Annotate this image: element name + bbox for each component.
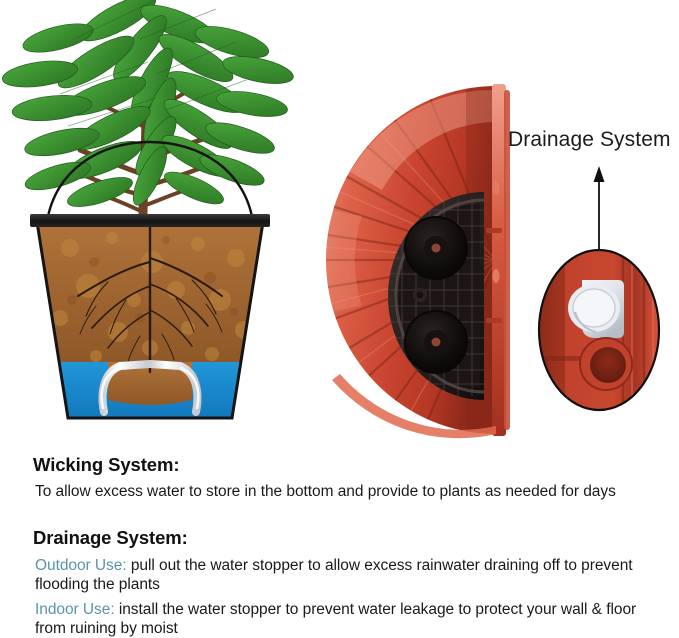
- drainage-system-heading: Drainage System:: [33, 527, 188, 549]
- drainage-hole: [580, 338, 632, 390]
- half-section-pot-photo: [270, 80, 530, 440]
- drainage-system-callout-label: Drainage System: [508, 128, 671, 152]
- outdoor-use-tag: Outdoor Use:: [35, 557, 127, 574]
- pot-cut-edge: [492, 84, 506, 436]
- indoor-use-line: Indoor Use: install the water stopper to…: [35, 600, 660, 638]
- indoor-use-text: install the water stopper to prevent wat…: [35, 601, 636, 637]
- plant-foliage: [1, 0, 296, 215]
- plant-cross-section-illustration: [0, 0, 300, 440]
- figure-area: Drainage System: [0, 0, 679, 440]
- wicking-system-heading: Wicking System:: [33, 454, 179, 476]
- wicking-system-body: To allow excess water to store in the bo…: [35, 482, 655, 501]
- callout-arrow: [594, 166, 605, 252]
- drainage-stopper-detail-callout: [520, 160, 679, 440]
- description-text-block: Wicking System: To allow excess water to…: [0, 440, 679, 633]
- pot-rim: [30, 214, 270, 227]
- indoor-use-tag: Indoor Use:: [35, 601, 115, 618]
- outdoor-use-line: Outdoor Use: pull out the water stopper …: [35, 556, 650, 594]
